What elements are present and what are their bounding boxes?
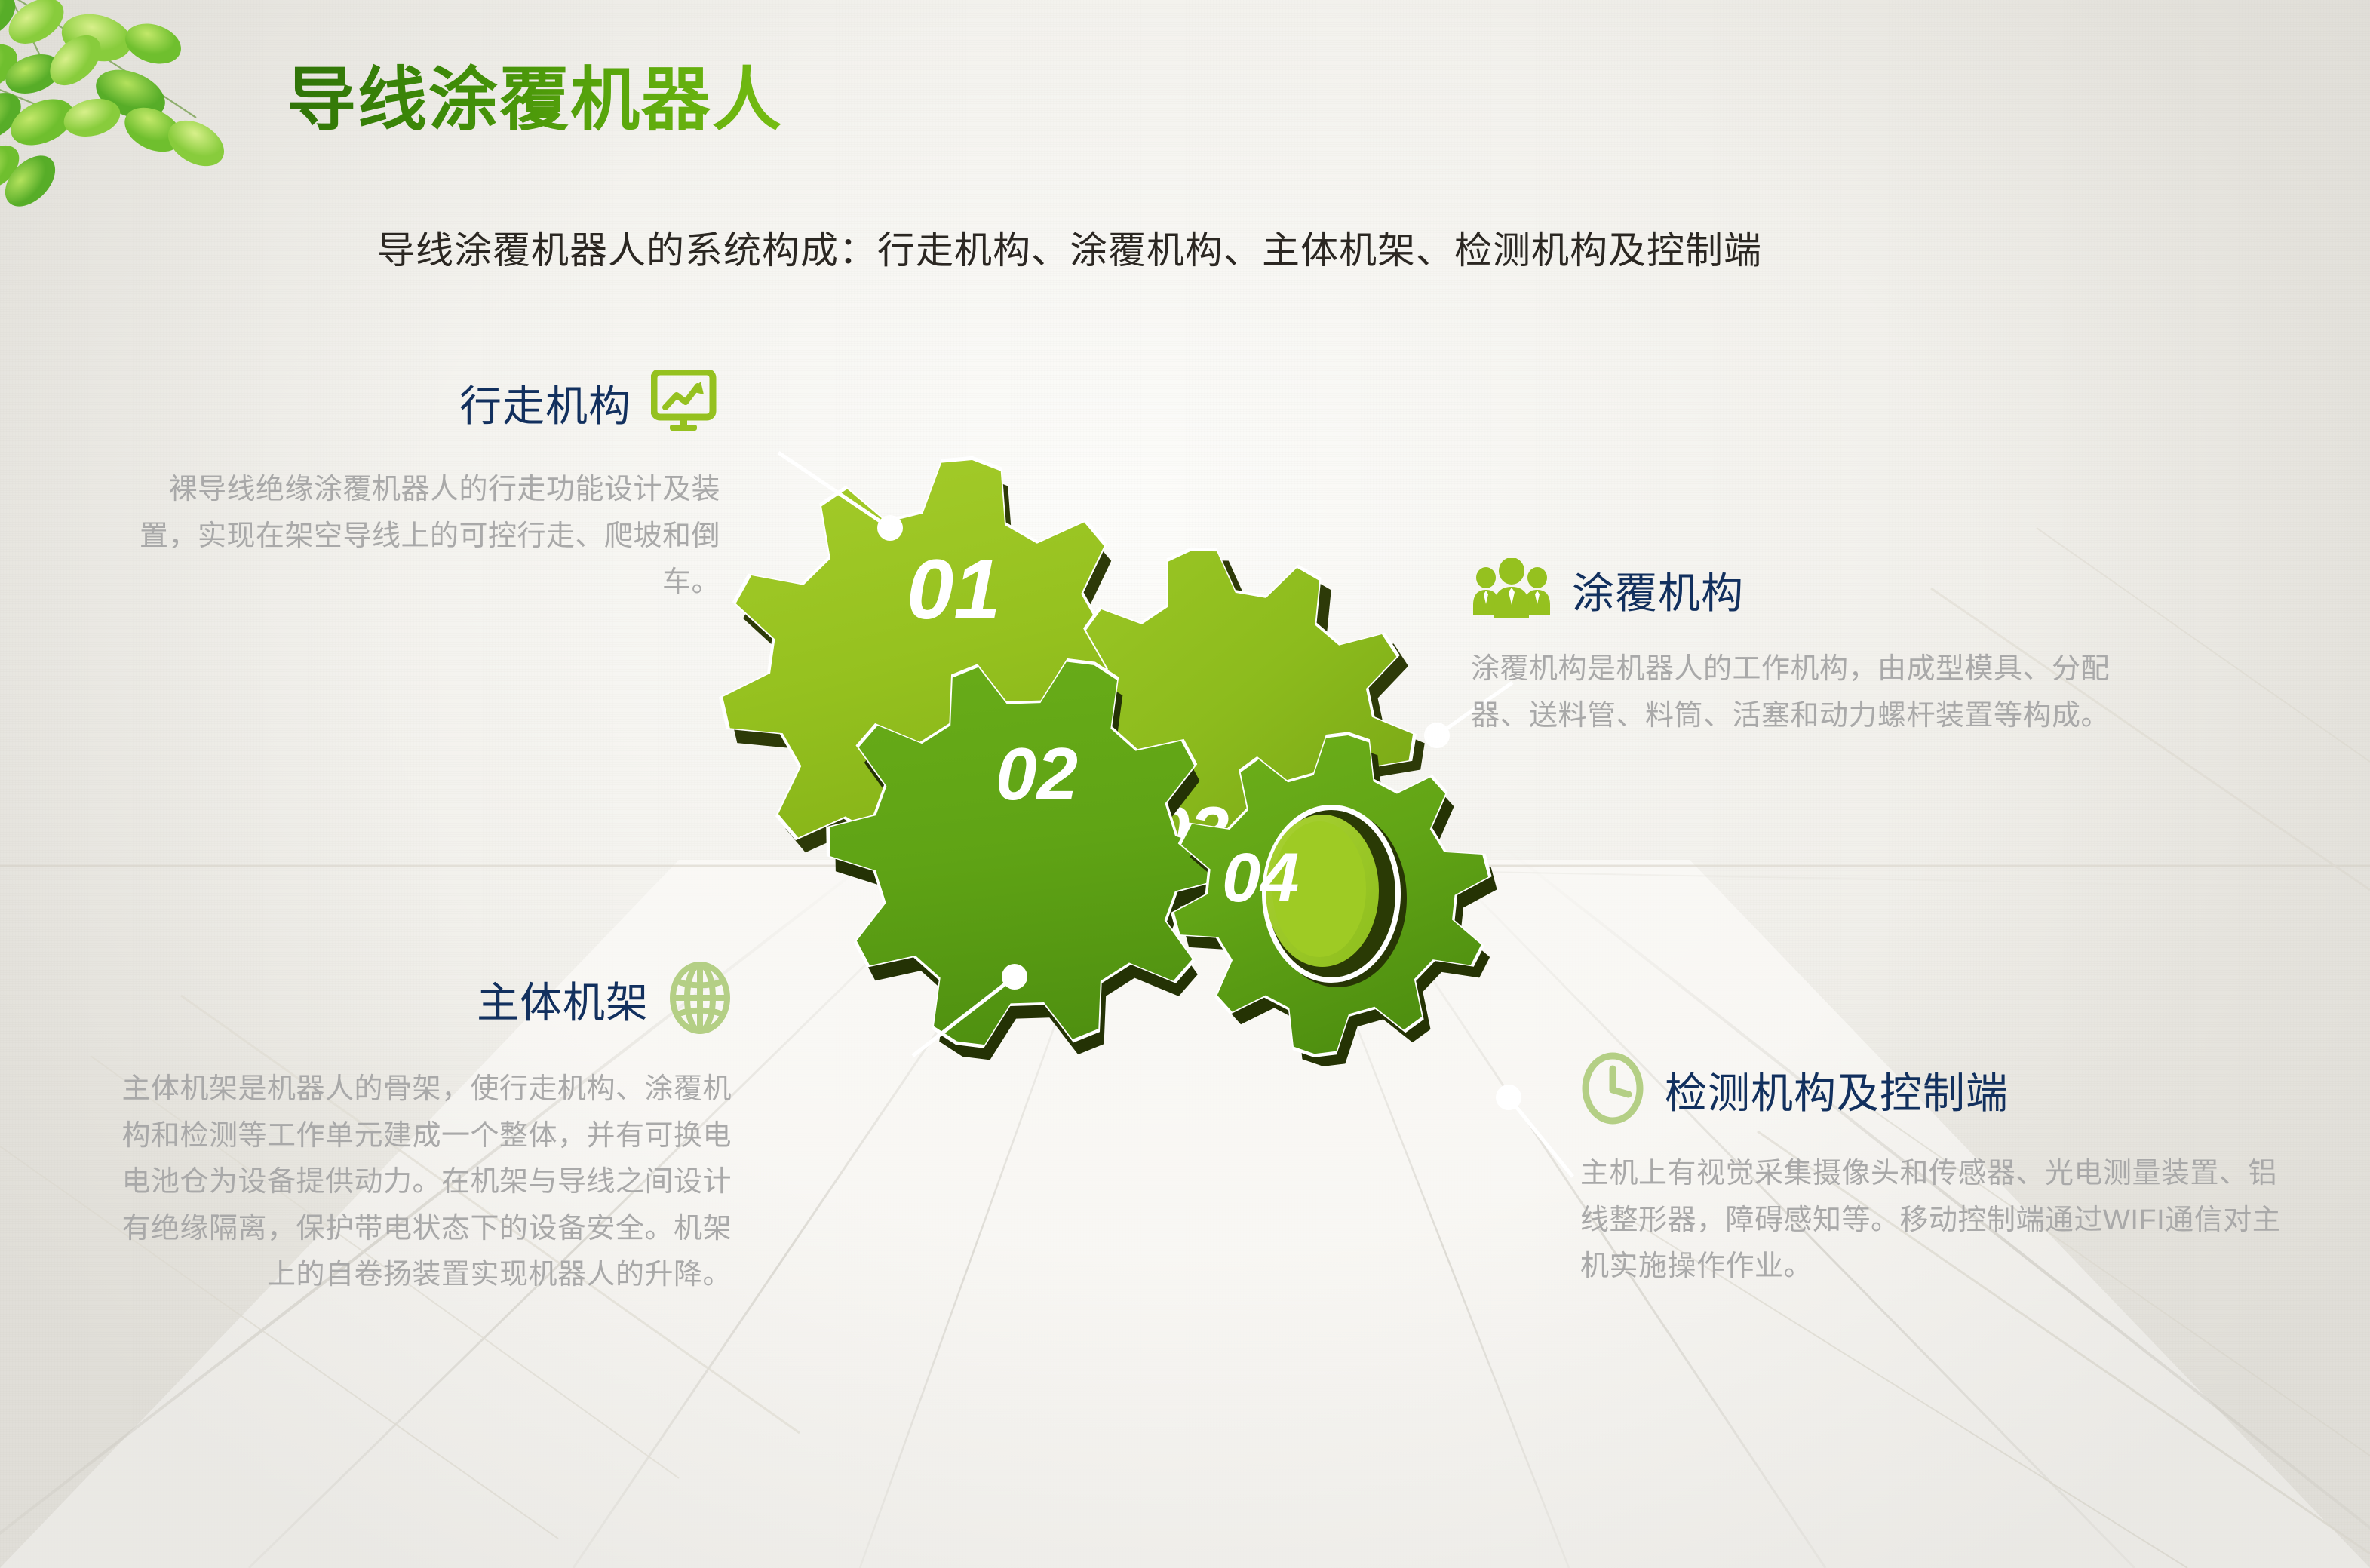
section-block-04: 检测机构及控制端 主机上有视觉采集摄像头和传感器、光电测量装置、铝线整形器，障碍… bbox=[1580, 1052, 2289, 1290]
gear-04-number: 04 bbox=[1222, 839, 1299, 916]
section-02-heading: 涂覆机构 bbox=[1572, 560, 1744, 621]
section-04-header: 检测机构及控制端 bbox=[1580, 1052, 2289, 1128]
gear-01-number: 01 bbox=[907, 542, 1001, 637]
section-04-body: 主机上有视觉采集摄像头和传感器、光电测量装置、铝线整形器，障碍感知等。移动控制端… bbox=[1580, 1151, 2289, 1290]
gear-cluster-graphic: 01 03 02 bbox=[701, 354, 1659, 1267]
globe-icon bbox=[668, 962, 732, 1038]
section-03-body: 主体机架是机器人的骨架，使行走机构、涂覆机构和检测等工作单元建成一个整体，并有可… bbox=[106, 1066, 732, 1299]
section-04-heading: 检测机构及控制端 bbox=[1665, 1060, 2009, 1121]
monitor-chart-icon bbox=[651, 370, 720, 437]
section-block-01: 行走机构 裸导线绝缘涂覆机器人的行走功能设计及装置，实现在架空导线上的可控行走、… bbox=[117, 370, 720, 606]
page-subtitle: 导线涂覆机器人的系统构成：行走机构、涂覆机构、主体机架、检测机构及控制端 bbox=[377, 220, 1762, 275]
section-02-header: 涂覆机构 bbox=[1471, 558, 2165, 622]
gear-02-number: 02 bbox=[996, 732, 1078, 815]
section-02-body: 涂覆机构是机器人的工作机构，由成型模具、分配器、送料管、料筒、活塞和动力螺杆装置… bbox=[1471, 646, 2165, 739]
section-03-header: 主体机架 bbox=[106, 962, 732, 1038]
people-group-icon bbox=[1471, 558, 1552, 622]
section-01-header: 行走机构 bbox=[117, 370, 720, 437]
section-03-heading: 主体机架 bbox=[477, 969, 649, 1030]
section-block-02: 涂覆机构 涂覆机构是机器人的工作机构，由成型模具、分配器、送料管、料筒、活塞和动… bbox=[1471, 558, 2165, 739]
page-title: 导线涂覆机器人 bbox=[287, 44, 783, 144]
section-01-body: 裸导线绝缘涂覆机器人的行走功能设计及装置，实现在架空导线上的可控行走、爬坡和倒车… bbox=[117, 467, 720, 606]
section-01-heading: 行走机构 bbox=[459, 373, 631, 434]
clock-icon bbox=[1580, 1052, 1645, 1128]
section-block-03: 主体机架 主体机架是机器人的骨架，使行走机构、涂覆机构和检测等工作单元建成一个整… bbox=[106, 962, 732, 1299]
